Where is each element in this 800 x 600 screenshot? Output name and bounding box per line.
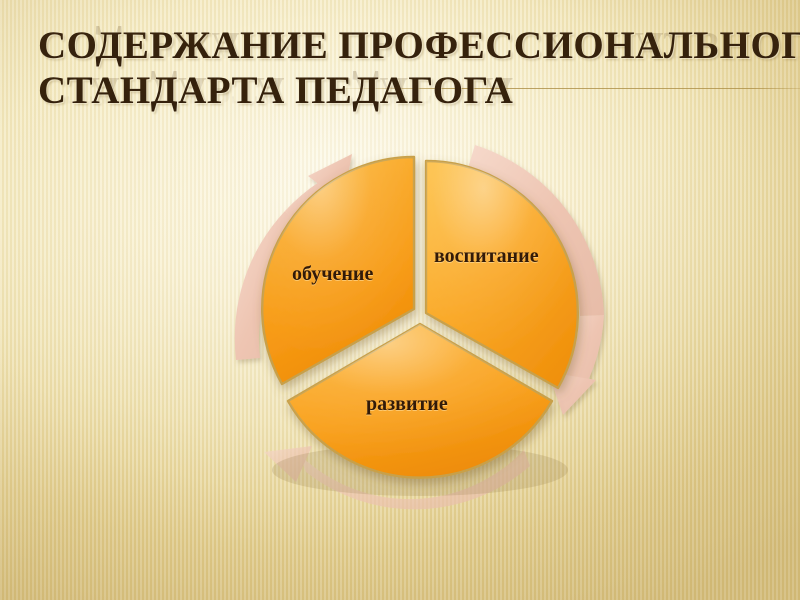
- title-line-2: СТАНДАРТА ПЕДАГОГА СТАНДАРТА ПЕДАГОГА: [38, 71, 780, 110]
- title-line-2-text: СТАНДАРТА ПЕДАГОГА: [38, 69, 513, 112]
- title-line-1-text: СОДЕРЖАНИЕ ПРОФЕССИОНАЛЬНОГО: [38, 24, 800, 67]
- slide-canvas: СОДЕРЖАНИЕ ПРОФЕССИОНАЛЬНОГО СОДЕРЖАНИЕ …: [0, 0, 800, 600]
- page-title: СОДЕРЖАНИЕ ПРОФЕССИОНАЛЬНОГО СОДЕРЖАНИЕ …: [38, 26, 780, 110]
- pie-label-vospitanie: воспитание: [434, 245, 539, 268]
- pie-label-obuchenie: обучение: [292, 263, 373, 286]
- pie-label-razvitie: развитие: [366, 393, 448, 416]
- title-line-1: СОДЕРЖАНИЕ ПРОФЕССИОНАЛЬНОГО СОДЕРЖАНИЕ …: [38, 26, 780, 65]
- cycle-pie-diagram: обучение воспитание развитие: [200, 110, 640, 530]
